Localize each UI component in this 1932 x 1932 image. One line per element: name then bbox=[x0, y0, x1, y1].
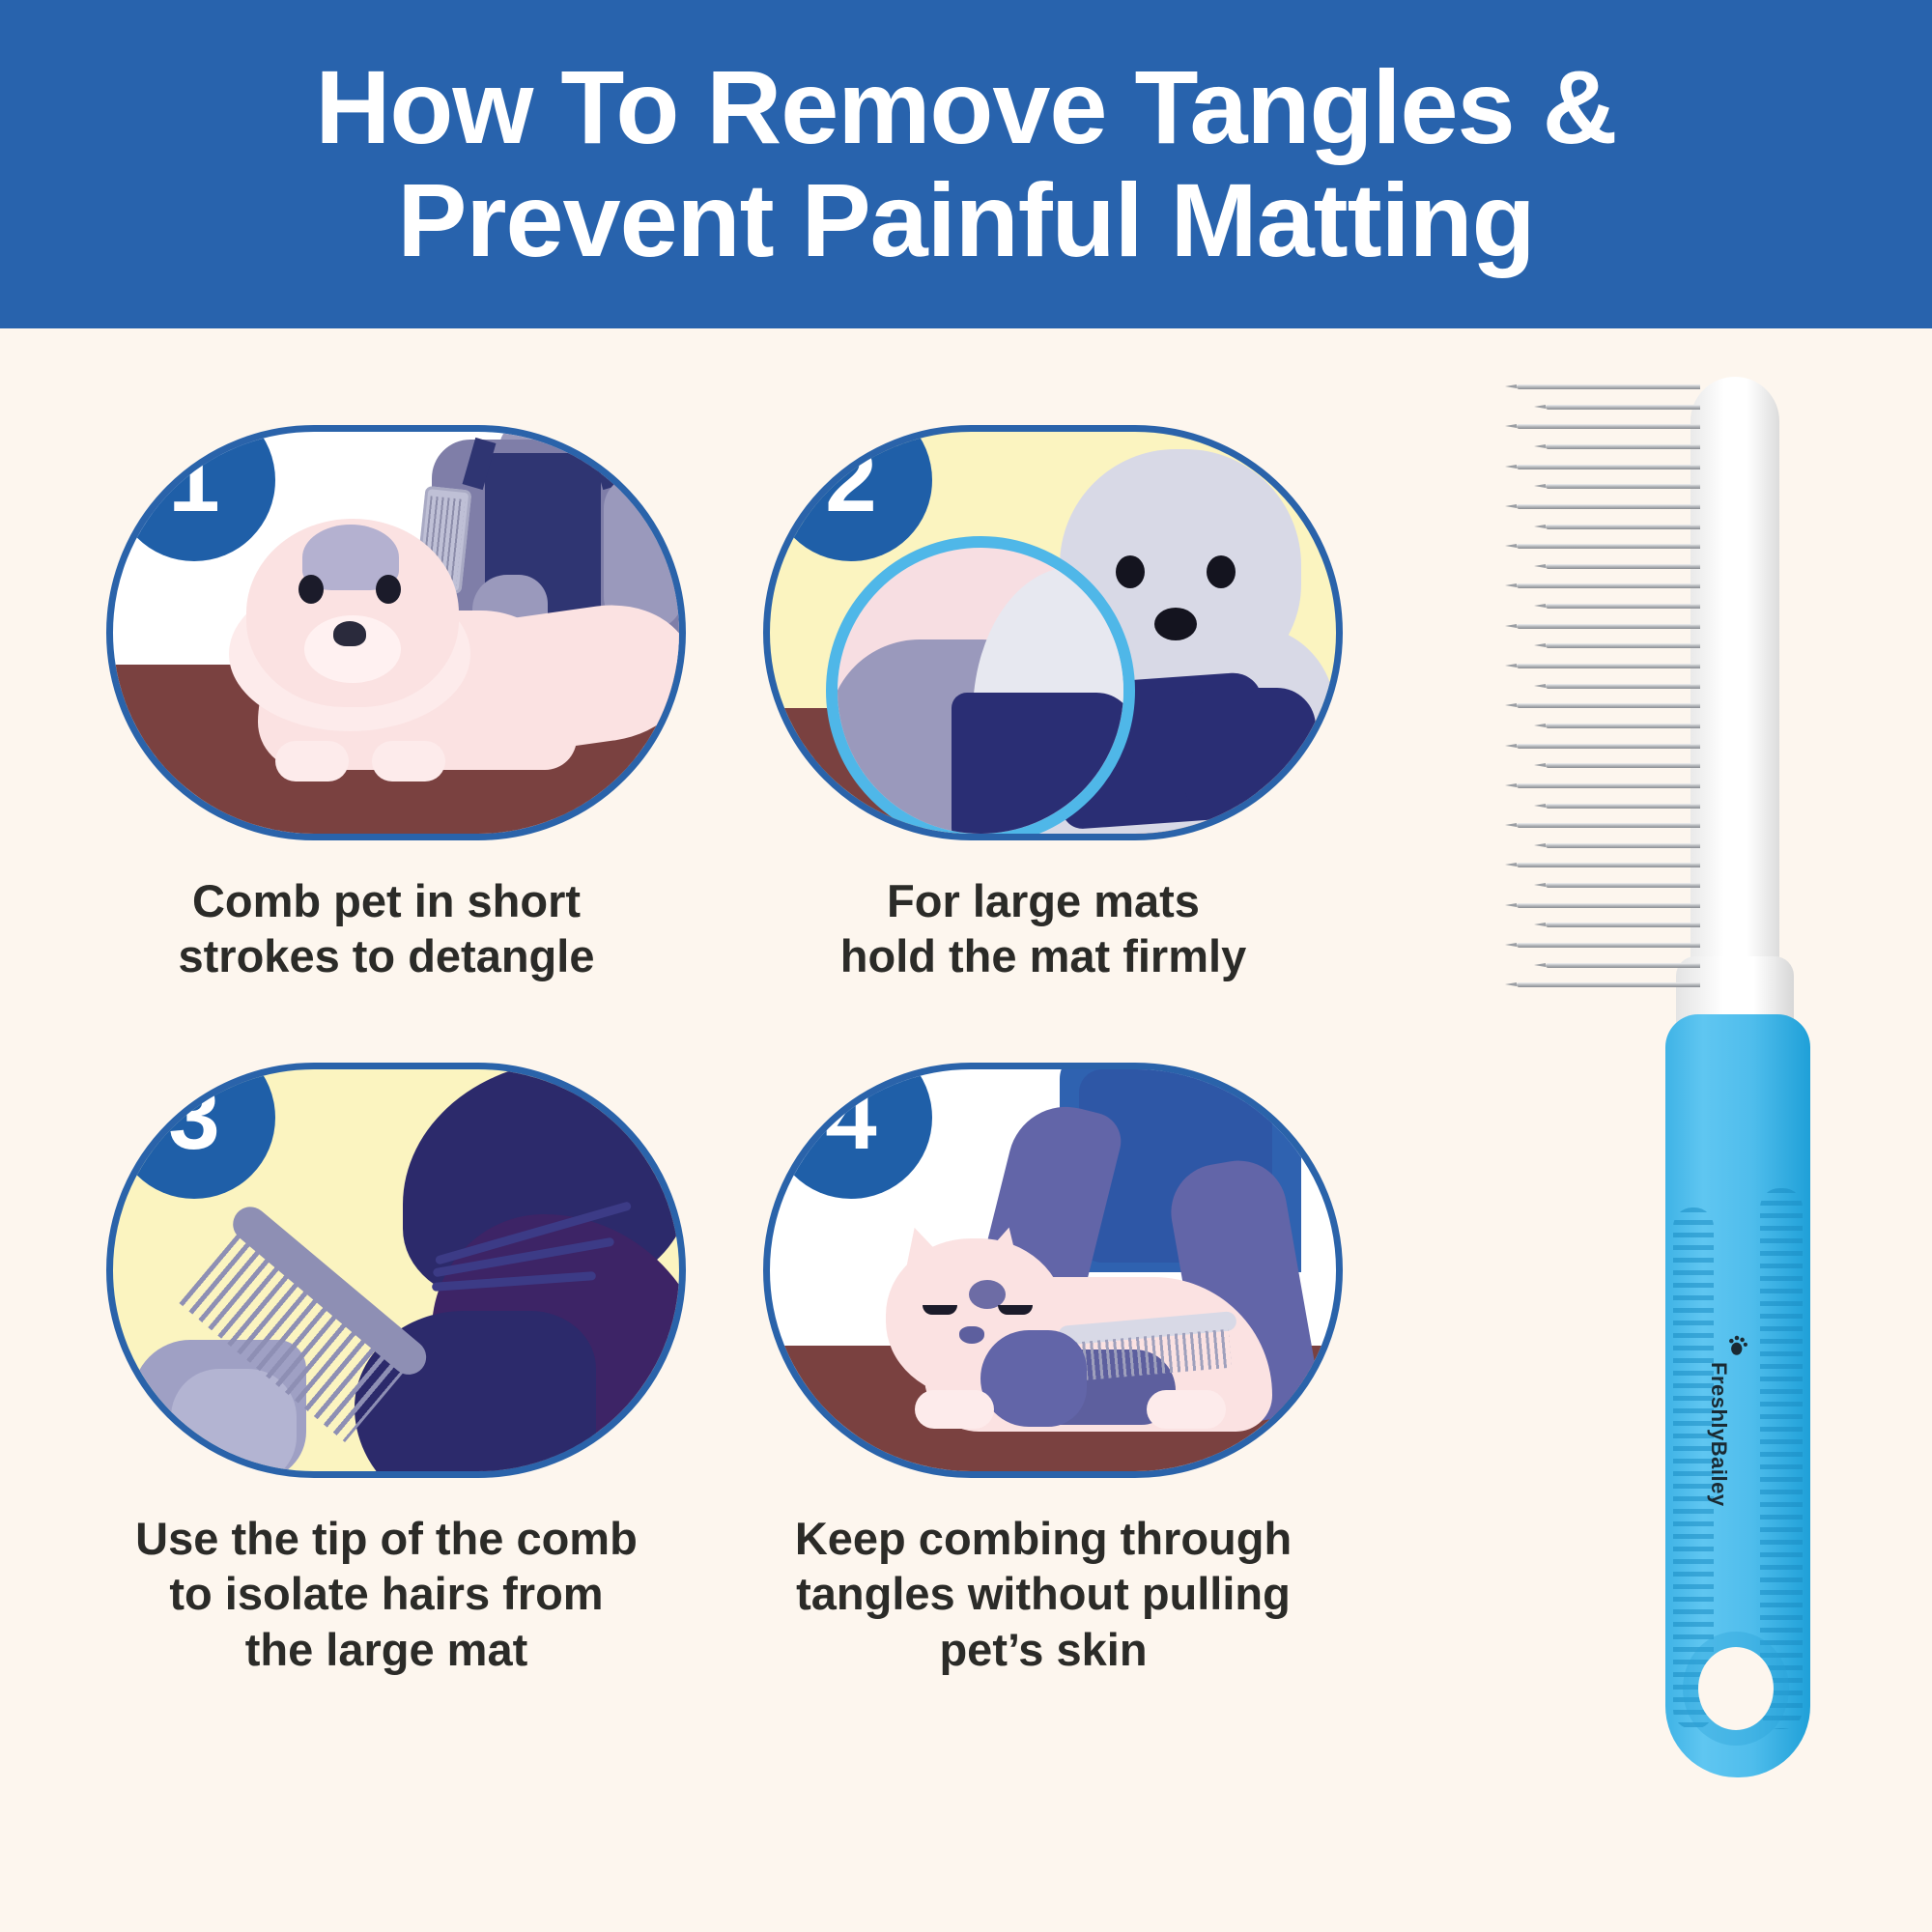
step-caption-2: For large mats hold the mat firmly bbox=[734, 873, 1352, 984]
step-illustration-1: 1 bbox=[106, 425, 686, 840]
comb-tooth bbox=[1517, 703, 1700, 708]
steps-grid: 1 Comb pet in short strokes to detangle bbox=[58, 425, 1410, 1777]
comb-tooth bbox=[1546, 804, 1700, 809]
comb-tooth bbox=[1517, 544, 1700, 549]
dog-paw-left bbox=[275, 741, 349, 781]
comb-tooth bbox=[1546, 484, 1700, 489]
page-title-line-2: Prevent Painful Matting bbox=[397, 164, 1534, 277]
step-caption-4: Keep combing through tangles without pul… bbox=[734, 1511, 1352, 1677]
comb-tooth bbox=[1517, 384, 1700, 389]
comb-tooth bbox=[1517, 744, 1700, 749]
product-brand-label: FreshlyBailey bbox=[1706, 1362, 1731, 1507]
page-title-line-1: How To Remove Tangles & bbox=[315, 51, 1616, 164]
comb-tooth bbox=[1517, 982, 1700, 987]
comb-tooth bbox=[1517, 624, 1700, 629]
comb-tooth bbox=[1517, 664, 1700, 668]
step-card-2: 2 For large mats hold the mat firmly bbox=[734, 425, 1352, 984]
dog-eye-left bbox=[298, 575, 324, 604]
comb-tooth bbox=[1517, 465, 1700, 469]
comb-tooth bbox=[1517, 424, 1700, 429]
header-banner: How To Remove Tangles & Prevent Painful … bbox=[0, 0, 1932, 328]
step-illustration-2: 2 bbox=[763, 425, 1343, 840]
comb-tooth bbox=[1546, 444, 1700, 449]
comb-tooth bbox=[1546, 604, 1700, 609]
comb-tooth bbox=[1546, 405, 1700, 410]
paw-print-icon bbox=[1727, 1333, 1752, 1358]
comb-tooth bbox=[1546, 763, 1700, 768]
comb-tooth bbox=[1546, 643, 1700, 648]
magnifier-lens bbox=[826, 536, 1135, 840]
dog-nose bbox=[333, 621, 366, 646]
magnified-mat bbox=[952, 693, 1135, 840]
dog-paw-right bbox=[372, 741, 445, 781]
comb-tooth bbox=[1517, 504, 1700, 509]
comb-spine-white bbox=[1690, 377, 1779, 1014]
comb-hanging-hole bbox=[1698, 1647, 1774, 1730]
comb-tooth bbox=[1517, 903, 1700, 908]
dog-eye-right bbox=[1207, 555, 1236, 588]
comb-tooth bbox=[1517, 823, 1700, 828]
comb-tooth bbox=[1546, 923, 1700, 927]
product-comb-photo: FreshlyBailey bbox=[1507, 377, 1893, 1826]
comb-tooth bbox=[1517, 583, 1700, 588]
dog-nose bbox=[1154, 608, 1197, 640]
comb-tooth bbox=[1546, 525, 1700, 529]
comb-tooth bbox=[1546, 684, 1700, 689]
cat-paw-front bbox=[915, 1390, 994, 1429]
comb-tooth bbox=[1517, 943, 1700, 948]
cat-paw-rear bbox=[1147, 1390, 1226, 1429]
step-caption-1: Comb pet in short strokes to detangle bbox=[77, 873, 696, 984]
step-card-1: 1 Comb pet in short strokes to detangle bbox=[77, 425, 696, 984]
dog-eye-right bbox=[376, 575, 401, 604]
step-illustration-4: 4 bbox=[763, 1063, 1343, 1478]
cat-eye-left bbox=[923, 1305, 957, 1315]
comb-tooth bbox=[1546, 724, 1700, 728]
cat-nose bbox=[959, 1326, 984, 1344]
comb-tooth bbox=[1517, 863, 1700, 867]
comb-tooth bbox=[1546, 564, 1700, 569]
step-illustration-3: 3 bbox=[106, 1063, 686, 1478]
step-card-4: 4 Keep combing through tangles without p… bbox=[734, 1063, 1352, 1677]
cat-eye-right bbox=[998, 1305, 1033, 1315]
matted-fur-clump-secondary bbox=[1185, 688, 1316, 804]
comb-tooth bbox=[1546, 883, 1700, 888]
comb-tooth bbox=[1546, 843, 1700, 848]
comb-tooth bbox=[1546, 963, 1700, 968]
comb-teeth-row bbox=[1507, 377, 1700, 1014]
comb-tooth bbox=[1517, 783, 1700, 788]
step-caption-3: Use the tip of the comb to isolate hairs… bbox=[77, 1511, 696, 1677]
step-card-3: 3 Use the tip of the comb to isolate hai… bbox=[77, 1063, 696, 1677]
person-hand bbox=[980, 1330, 1087, 1427]
